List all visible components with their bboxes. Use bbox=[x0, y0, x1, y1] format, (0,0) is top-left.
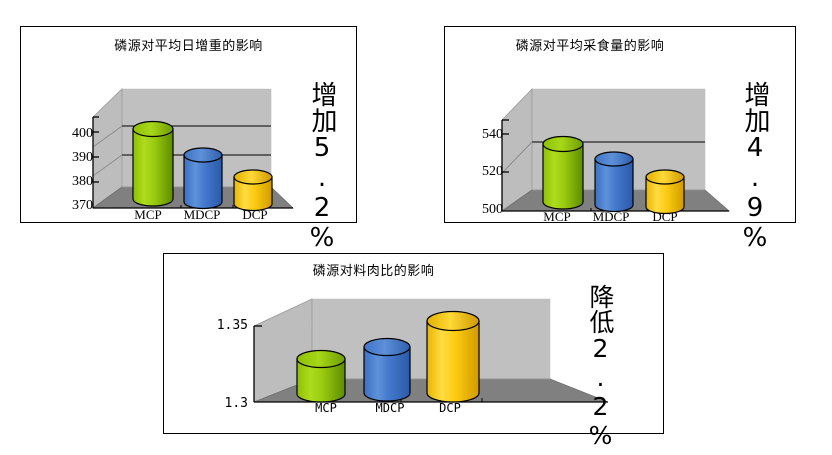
bar-mdcp bbox=[595, 152, 633, 212]
chart-annotation-feed-conversion-ratio: 降低2.2% bbox=[588, 284, 613, 450]
bar-dcp bbox=[427, 312, 479, 403]
bar-dcp bbox=[646, 170, 684, 214]
chart-annotation-average-feed-intake: 增加4.9% bbox=[742, 81, 768, 253]
chart-panel-average-daily-gain: 磷源对平均日增重的影响 400 390 380 370 MCP MDCP DCP bbox=[20, 26, 357, 223]
chart-panel-feed-conversion-ratio: 磷源对料肉比的影响 1.35 1.3 MCP MDCP DCP bbox=[163, 253, 664, 434]
bar-mcp bbox=[297, 351, 345, 403]
bar-mdcp bbox=[364, 339, 410, 402]
bar-dcp bbox=[234, 170, 272, 211]
bar-mcp bbox=[133, 122, 173, 207]
chart-annotation-average-daily-gain: 增加5.2% bbox=[309, 81, 335, 253]
chart-panel-average-feed-intake: 磷源对平均采食量的影响 540 520 500 MCP MDCP DCP bbox=[444, 26, 796, 223]
bar-mcp bbox=[543, 137, 583, 210]
bar-mdcp bbox=[184, 148, 222, 209]
